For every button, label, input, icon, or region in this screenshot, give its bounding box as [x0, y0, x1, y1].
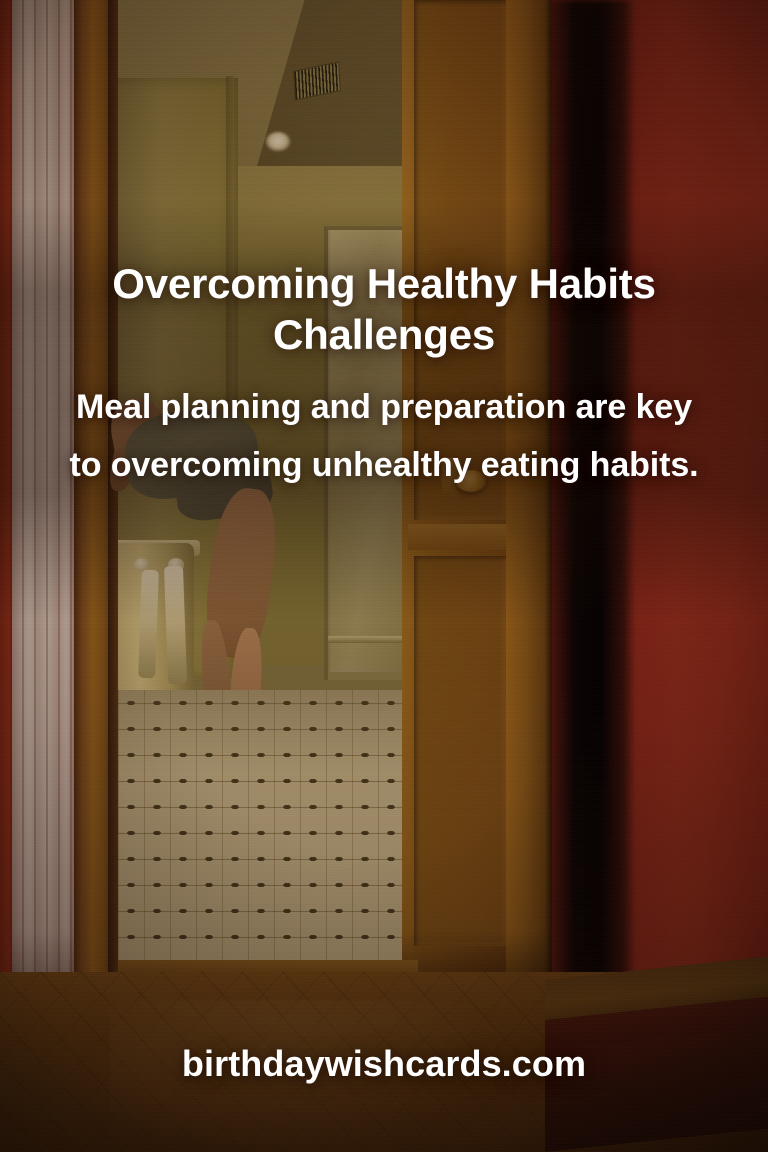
text-overlay: Overcoming Healthy Habits Challenges Mea…	[0, 0, 768, 1152]
subheadline-message: Meal planning and preparation are key to…	[60, 379, 708, 495]
footer-website-url: birthdaywishcards.com	[0, 1043, 768, 1085]
greeting-card-image: Overcoming Healthy Habits Challenges Mea…	[0, 0, 768, 1152]
headline-title: Overcoming Healthy Habits Challenges	[40, 258, 728, 360]
